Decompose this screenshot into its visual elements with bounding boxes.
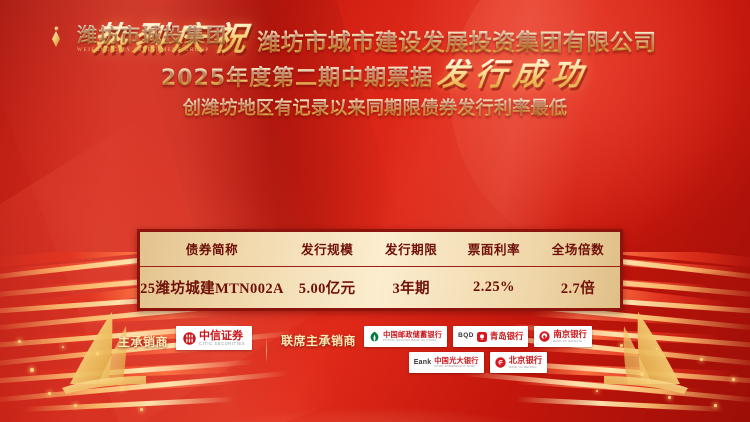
sparkle-dot — [96, 352, 99, 355]
subtitle: 创潍坊地区有记录以来同期限债券发行利率最低 — [183, 98, 567, 120]
postal-savings-bank-logo: 中国邮政储蓄银行 POSTAL SAVINGS BANK OF CHINA — [364, 326, 447, 347]
bond-info-table: 债券简称 发行规模 发行期限 票面利率 全场倍数 25潍坊城建MTN002A 5… — [137, 229, 623, 311]
postal-savings-bank-logo-icon — [369, 331, 380, 342]
ribbon-streak — [25, 397, 235, 412]
title-success: 发行成功 — [435, 59, 591, 92]
postal-bank-name-en: POSTAL SAVINGS BANK OF CHINA — [383, 339, 439, 342]
everbright-bank-logo: Eank 中国光大银行 CHINA EVERBRIGHT BANK — [409, 352, 484, 373]
table-cell-bond-name: 25潍坊城建MTN002A — [140, 266, 284, 308]
citic-name-cn: 中信证券 — [199, 330, 245, 341]
nanjing-name-en: BANK OF NANJING — [553, 340, 585, 343]
qingdao-name-cn: 青岛银行 — [490, 332, 524, 340]
joint-underwriter-row-2: Eank 中国光大银行 CHINA EVERBRIGHT BANK 北京银行 — [364, 352, 592, 373]
underwriter-divider — [266, 337, 267, 363]
bank-of-nanjing-logo-icon — [539, 331, 550, 342]
sparkle-dot — [714, 404, 717, 407]
postal-bank-name-cn: 中国邮政储蓄银行 — [383, 331, 442, 338]
beijing-name-cn: 北京银行 — [509, 356, 543, 364]
sparkle-dot — [30, 368, 34, 372]
everbright-mark-text: Eank — [414, 359, 432, 366]
bank-of-beijing-logo-icon — [495, 357, 506, 368]
joint-underwriter-label: 联席主承销商 — [281, 326, 356, 349]
everbright-name-cn: 中国光大银行 — [434, 357, 478, 364]
company-name: 潍坊市城市建设发展投资集团有限公司 — [257, 29, 657, 57]
joint-underwriter-group: 中国邮政储蓄银行 POSTAL SAVINGS BANK OF CHINA BQ… — [364, 326, 592, 373]
brand-logo: 潍坊市城投集团 WEIFANG CITY INVESTMENT GROUP — [26, 18, 228, 60]
sparkle-dot — [640, 372, 644, 376]
table-header-cell: 票面利率 — [452, 232, 536, 266]
sparkle-dot — [48, 392, 51, 395]
table-cell-issue-size: 5.00亿元 — [284, 266, 370, 308]
everbright-name-en: CHINA EVERBRIGHT BANK — [434, 365, 476, 368]
bank-of-nanjing-logo: 南京银行 BANK OF NANJING — [534, 326, 592, 347]
nanjing-name-cn: 南京银行 — [553, 330, 587, 338]
ribbon-streak — [515, 397, 725, 412]
bank-of-qingdao-logo: BQD 青岛银行 — [453, 326, 528, 347]
table-cell-tenor: 3年期 — [370, 266, 452, 308]
bank-of-beijing-logo: 北京银行 BANK OF BEIJING — [490, 352, 548, 373]
table-header-cell: 债券简称 — [140, 232, 284, 266]
brand-name-cn: 潍坊市城投集团 — [77, 25, 228, 45]
issue-name: 2025年度第二期中期票据 — [161, 66, 433, 93]
lead-underwriter-label: 主承销商 — [118, 327, 168, 350]
bank-of-qingdao-logo-icon — [477, 332, 487, 342]
joint-underwriter-row-1: 中国邮政储蓄银行 POSTAL SAVINGS BANK OF CHINA BQ… — [364, 326, 592, 347]
table-header-cell: 发行期限 — [370, 232, 452, 266]
sparkle-dot — [18, 340, 21, 343]
lead-underwriter-group: 主承销商 中信证券 CITIC SECURITIES — [118, 326, 252, 350]
underwriters-block: 主承销商 中信证券 CITIC SECURITIES 联席主承销商 — [118, 326, 638, 373]
sparkle-dot — [668, 396, 671, 399]
qingdao-name-en: BQD — [458, 333, 474, 340]
citic-securities-logo-icon — [183, 332, 196, 345]
table-row: 25潍坊城建MTN002A 5.00亿元 3年期 2.25% 2.7倍 — [140, 266, 620, 308]
table-cell-cover-ratio: 2.7倍 — [536, 266, 620, 308]
sparkle-dot — [140, 408, 143, 411]
brand-name-en: WEIFANG CITY INVESTMENT GROUP — [77, 48, 228, 53]
table-header-row: 债券简称 发行规模 发行期限 票面利率 全场倍数 — [140, 232, 620, 266]
weifang-crescent-emblem-icon — [26, 18, 68, 60]
poster-canvas: 潍坊市城投集团 WEIFANG CITY INVESTMENT GROUP 热烈… — [0, 0, 750, 422]
table-header-cell: 全场倍数 — [536, 232, 620, 266]
beijing-name-en: BANK OF BEIJING — [509, 366, 541, 369]
table-header-cell: 发行规模 — [284, 232, 370, 266]
citic-name-en: CITIC SECURITIES — [199, 342, 245, 346]
citic-securities-logo: 中信证券 CITIC SECURITIES — [176, 326, 252, 350]
table-cell-coupon: 2.25% — [452, 266, 536, 308]
